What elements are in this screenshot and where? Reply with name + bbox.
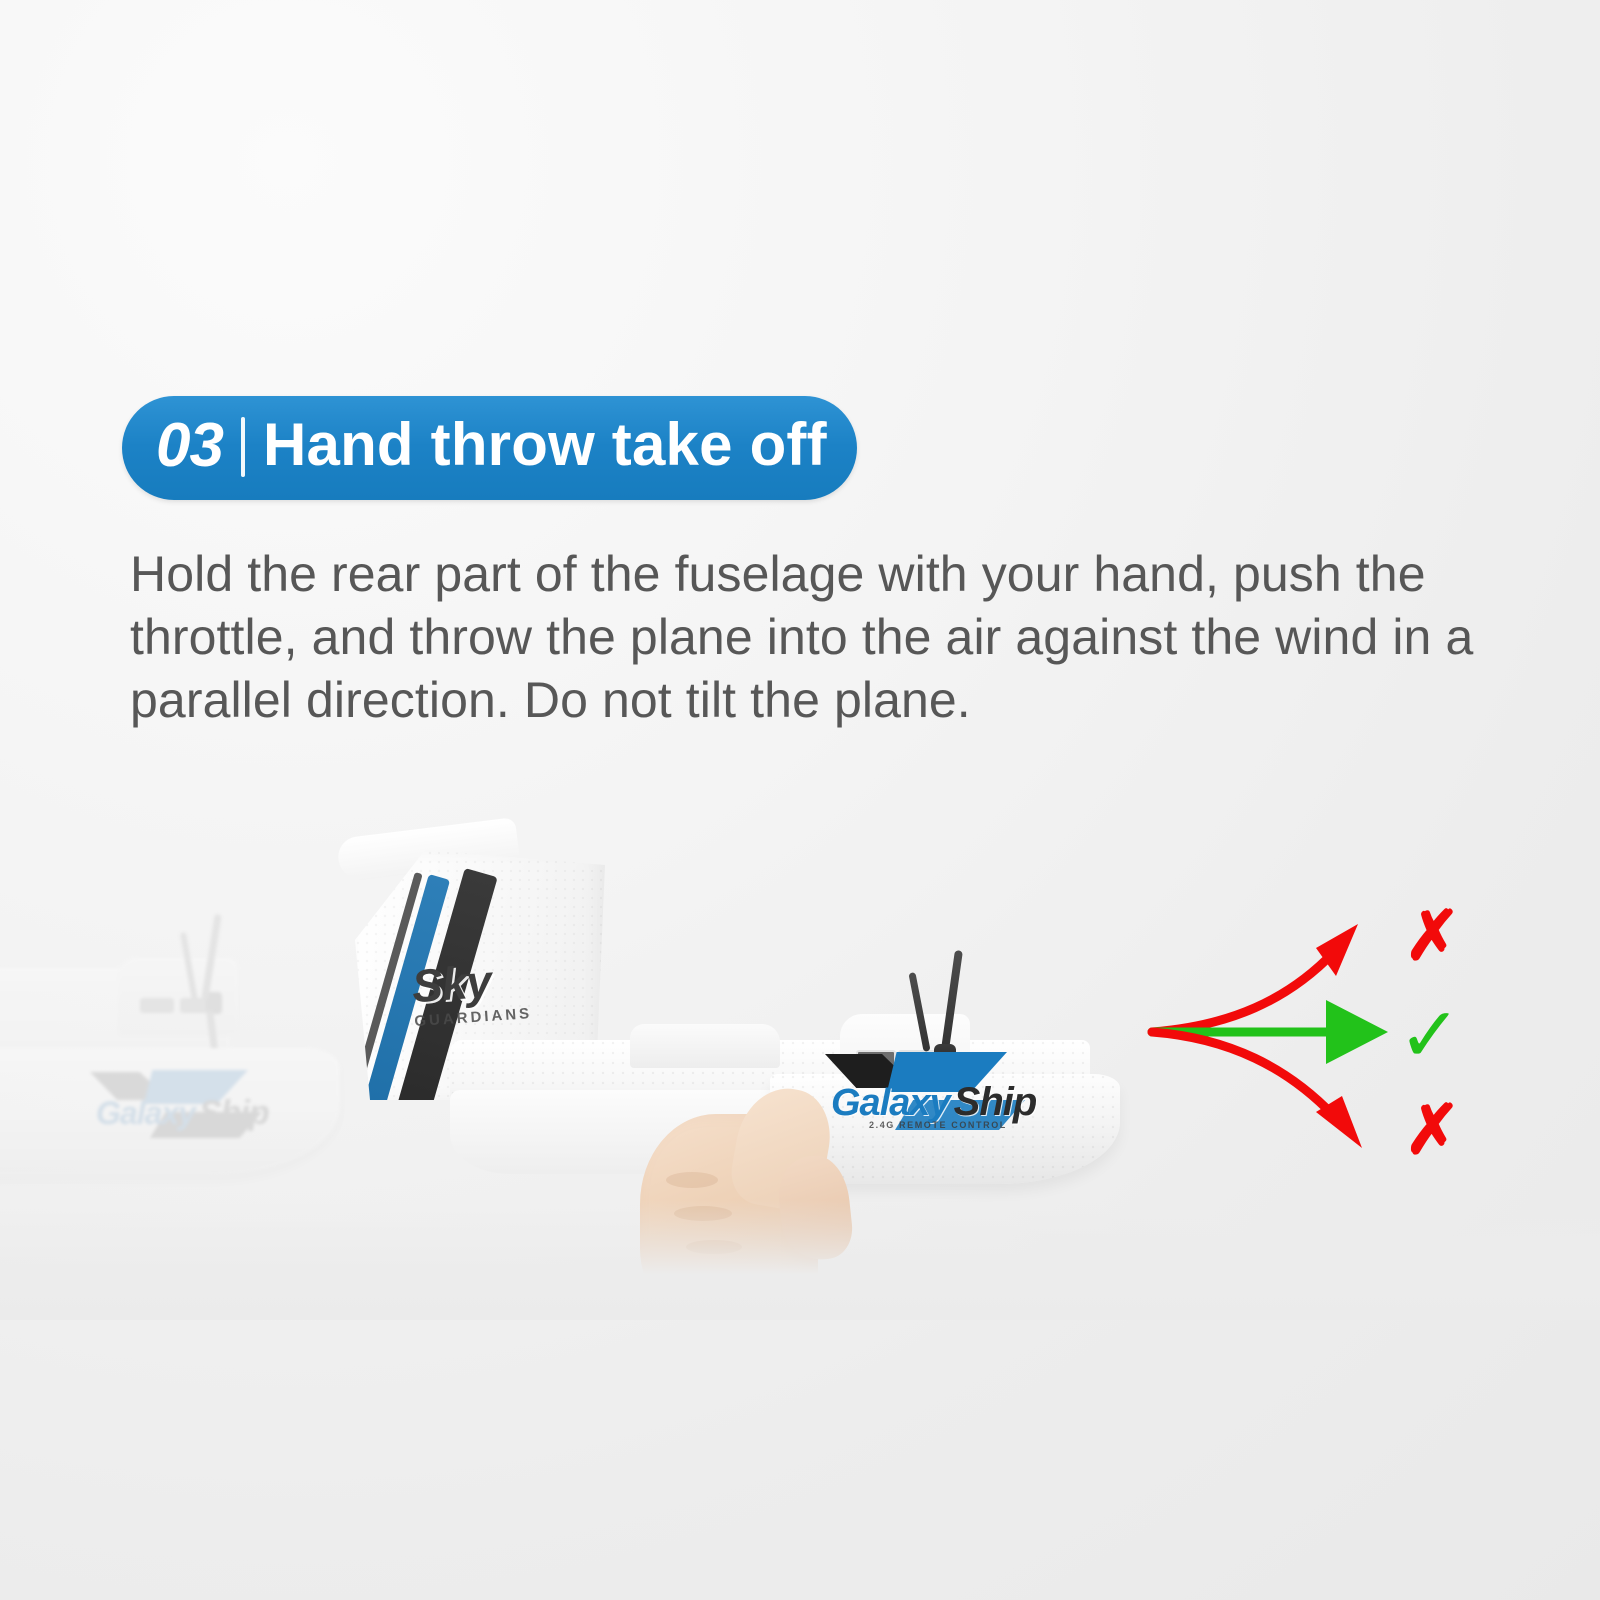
ghost-wing-decal: Galaxy Ship [90, 1068, 290, 1140]
instruction-page: 03 Hand throw take off Hold the rear par… [0, 0, 1600, 1600]
instruction-text: Hold the rear part of the fuselage with … [130, 543, 1495, 732]
ghost-vent-icon [140, 998, 174, 1013]
hand-holding-plane [640, 1088, 870, 1318]
check-icon-middle: ✓ [1398, 998, 1462, 1074]
throw-direction-diagram: ✗ ✓ ✗ [1120, 880, 1520, 1180]
knuckle-crease [666, 1172, 718, 1188]
cross-icon-top: ✗ [1404, 902, 1461, 970]
step-badge: 03 Hand throw take off [122, 396, 857, 500]
knuckle-crease [674, 1206, 732, 1221]
knuckle-crease [686, 1240, 742, 1254]
logo-ship-text: Ship [954, 1080, 1037, 1125]
cross-icon-bottom: ✗ [1404, 1096, 1461, 1164]
ghost-logo-ship: Ship [199, 1094, 269, 1133]
ghost-logo-galaxy: Galaxy [96, 1095, 195, 1132]
sky-brand-text: Sky [410, 953, 563, 1009]
arrow-straight-correct [1152, 1000, 1388, 1064]
logo-subtext: 2.4G REMOTE CONTROL [869, 1120, 1007, 1130]
instruction-paragraph: Hold the rear part of the fuselage with … [130, 543, 1495, 732]
cockpit-hatch [630, 1024, 780, 1068]
badge-separator [241, 417, 245, 477]
step-number: 03 [156, 415, 223, 477]
step-title: Hand throw take off [263, 415, 827, 475]
sky-guardians-decal: Sky GUARDIANS [410, 953, 565, 1043]
